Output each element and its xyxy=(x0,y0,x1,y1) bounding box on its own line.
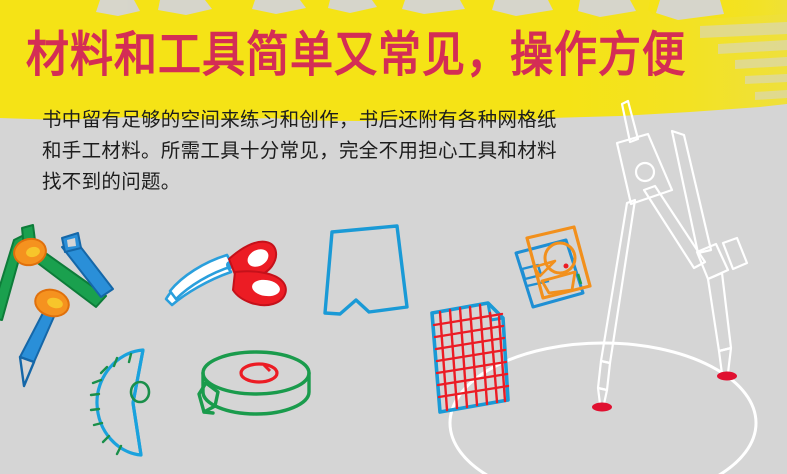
scissors-icon xyxy=(166,242,286,305)
grid-paper-icon xyxy=(432,303,508,412)
tape-roll-icon xyxy=(199,352,309,414)
notebooks-icon xyxy=(516,227,590,307)
drawn-circle-icon xyxy=(450,343,756,474)
paper-sheet-icon xyxy=(325,226,407,314)
tape-roll-center xyxy=(241,364,277,382)
compass-tip-dot-right xyxy=(717,372,737,381)
folding-ruler-icon xyxy=(0,225,113,386)
poster-page: 材料和工具简单又常见，操作方便 书中留有足够的空间来练习和创作，书后还附有各种网… xyxy=(0,0,787,474)
compass-tip-dot-left xyxy=(592,403,612,412)
protractor-icon xyxy=(91,350,149,455)
page-title: 材料和工具简单又常见，操作方便 xyxy=(26,26,686,84)
compass-icon xyxy=(598,101,747,404)
tape-roll-center-notch xyxy=(264,365,270,371)
body-paragraph: 书中留有足够的空间来练习和创作，书后还附有各种网格纸和手工材料。所需工具十分常见… xyxy=(42,104,572,197)
